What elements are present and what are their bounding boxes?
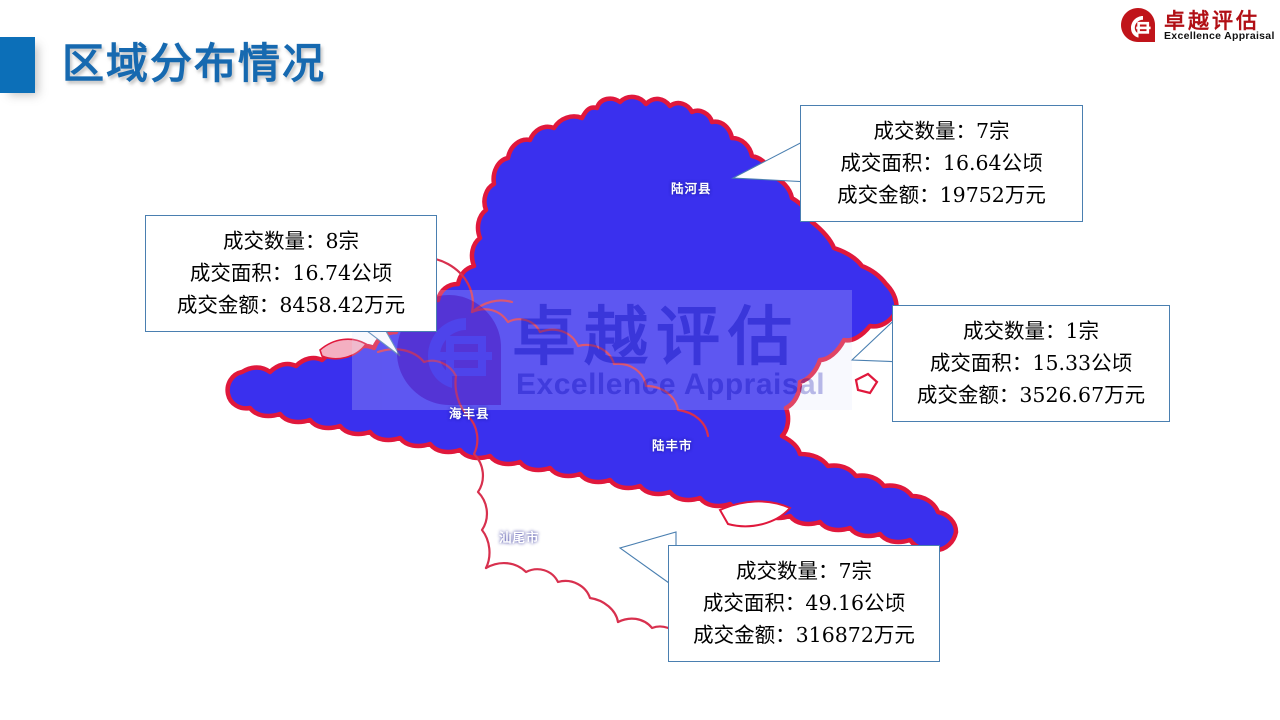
map-label-haifeng: 海丰县 [449, 403, 490, 422]
callout-luhe-area: 成交面积：16.64公顷 [815, 147, 1068, 179]
callout-shanwei-amount: 成交金额：316872万元 [683, 619, 925, 651]
callout-luhe-count: 成交数量：7宗 [815, 115, 1068, 147]
map-label-shanwei: 汕尾市 [499, 527, 540, 546]
callout-shanwei-count: 成交数量：7宗 [683, 555, 925, 587]
callout-lufeng-east-count: 成交数量：1宗 [907, 315, 1155, 347]
callout-haifeng[interactable]: 成交数量：8宗 成交面积：16.74公顷 成交金额：8458.42万元 [145, 215, 437, 332]
callout-lufeng-east-area: 成交面积：15.33公顷 [907, 347, 1155, 379]
brand-name-en: Excellence Appraisal [1164, 30, 1275, 42]
callout-shanwei[interactable]: 成交数量：7宗 成交面积：49.16公顷 成交金额：316872万元 [668, 545, 940, 662]
brand-logo-icon [1120, 7, 1156, 43]
map-label-luhe: 陆河县 [671, 178, 712, 197]
map-label-lufeng: 陆丰市 [652, 435, 693, 454]
callout-haifeng-amount: 成交金额：8458.42万元 [160, 289, 422, 321]
callout-haifeng-area: 成交面积：16.74公顷 [160, 257, 422, 289]
callout-lufeng-east[interactable]: 成交数量：1宗 成交面积：15.33公顷 成交金额：3526.67万元 [892, 305, 1170, 422]
brand-logo: 卓越评估 Excellence Appraisal [1120, 5, 1272, 47]
callout-lufeng-east-amount: 成交金额：3526.67万元 [907, 379, 1155, 411]
callout-shanwei-area: 成交面积：49.16公顷 [683, 587, 925, 619]
callout-luhe[interactable]: 成交数量：7宗 成交面积：16.64公顷 成交金额：19752万元 [800, 105, 1083, 222]
callout-luhe-amount: 成交金额：19752万元 [815, 179, 1068, 211]
callout-haifeng-count: 成交数量：8宗 [160, 225, 422, 257]
